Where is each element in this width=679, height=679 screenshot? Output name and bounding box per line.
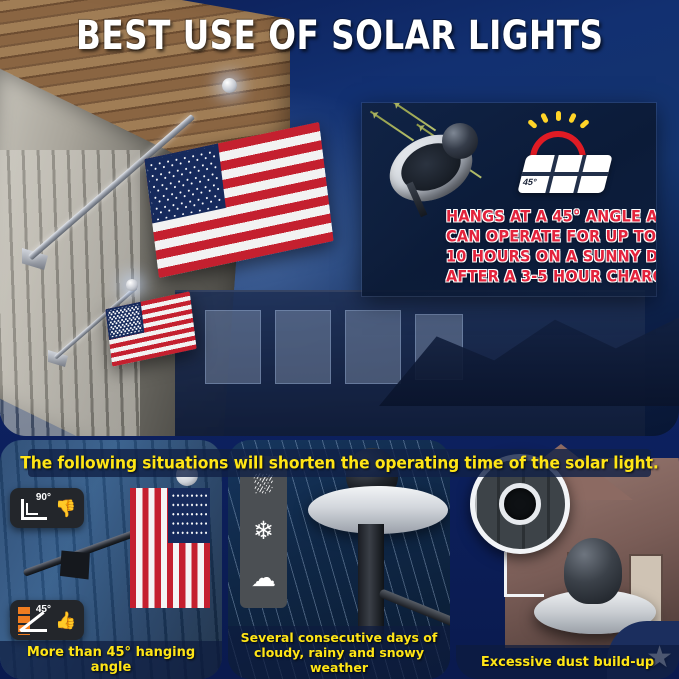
infographic-canvas: BEST USE OF SOLAR LIGHTS 45° HANGS AT A … [0, 0, 679, 679]
thumbs-down-icon: 👎 [55, 500, 76, 517]
warning-banner-text: The following situations will shorten th… [20, 453, 658, 472]
inset-line-1: HANGS AT A 45° ANGLE AND [446, 206, 652, 228]
snowflake-icon: ❄ [253, 519, 274, 544]
sun-ray-arrow [370, 111, 414, 142]
thumbs-up-icon: 👍 [55, 612, 76, 629]
page-title: BEST USE OF SOLAR LIGHTS [76, 12, 604, 59]
inset-text-block: HANGS AT A 45° ANGLE AND CAN OPERATE FOR… [446, 207, 652, 287]
solar-light-lamp-icon [370, 109, 505, 219]
house-wall-siding [0, 150, 140, 436]
right-angle-icon: 90° [18, 493, 50, 523]
weather-icon-strip: ⛆ ❄ ☁ [240, 456, 287, 608]
badge-90-degrees: 90° 👎 [10, 488, 84, 528]
caption-text: Several consecutive days of cloudy, rain… [234, 630, 444, 675]
sun-ray [556, 111, 561, 121]
cloudy-icon: ☁ [251, 566, 276, 591]
sun-ray [527, 119, 538, 129]
solar-light-head-secondary [126, 279, 138, 291]
caption-text: Excessive dust build-up [481, 655, 654, 670]
warning-banner: The following situations will shorten th… [28, 449, 651, 477]
panel-center-hub [499, 483, 541, 525]
magnifier-pointer-line [504, 552, 507, 596]
inset-line-2: CAN OPERATE FOR UP TO [446, 226, 652, 248]
angle-horizontal-leg [21, 517, 47, 520]
patio-window [205, 310, 261, 384]
badge-45-degrees: 45° 👍 [10, 600, 84, 640]
lamp-finial-ball [564, 538, 622, 604]
angle-horizontal-leg [21, 629, 47, 632]
caption-text: More than 45° hanging angle [6, 645, 216, 675]
sun-and-panel-icon: 45° [510, 111, 616, 197]
page-title-band: BEST USE OF SOLAR LIGHTS [0, 0, 679, 72]
sun-ray [568, 112, 577, 123]
inset-line-3: 10 HOURS ON A SUNNY DAY [446, 246, 652, 268]
caption-dust-buildup: Excessive dust build-up [456, 645, 679, 679]
patio-window [345, 310, 401, 384]
us-flag-vertical [130, 488, 210, 608]
solar-light-head-primary [222, 78, 237, 93]
caption-bad-weather: Several consecutive days of cloudy, rain… [228, 626, 450, 679]
feature-inset-panel: 45° HANGS AT A 45° ANGLE AND CAN OPERATE… [362, 103, 656, 296]
patio-window [275, 310, 331, 384]
caption-line-1: Several consecutive days of [241, 630, 438, 645]
solar-panel-icon [517, 155, 612, 193]
lamp-finial-ball [442, 123, 478, 159]
angle-90-label: 90° [36, 492, 51, 503]
angle-arc [26, 503, 38, 515]
inset-line-4: AFTER A 3-5 HOUR CHARGE [446, 266, 652, 288]
caption-hanging-angle: More than 45° hanging angle [0, 641, 222, 679]
flag-canton [168, 488, 210, 543]
sun-ray [540, 112, 549, 123]
caption-line-2: cloudy, rainy and snowy weather [254, 645, 424, 675]
pole-stem [358, 524, 384, 634]
sun-ray [579, 119, 590, 129]
acute-angle-icon: 45° [18, 605, 50, 635]
panel-angle-label: 45° [522, 177, 538, 187]
